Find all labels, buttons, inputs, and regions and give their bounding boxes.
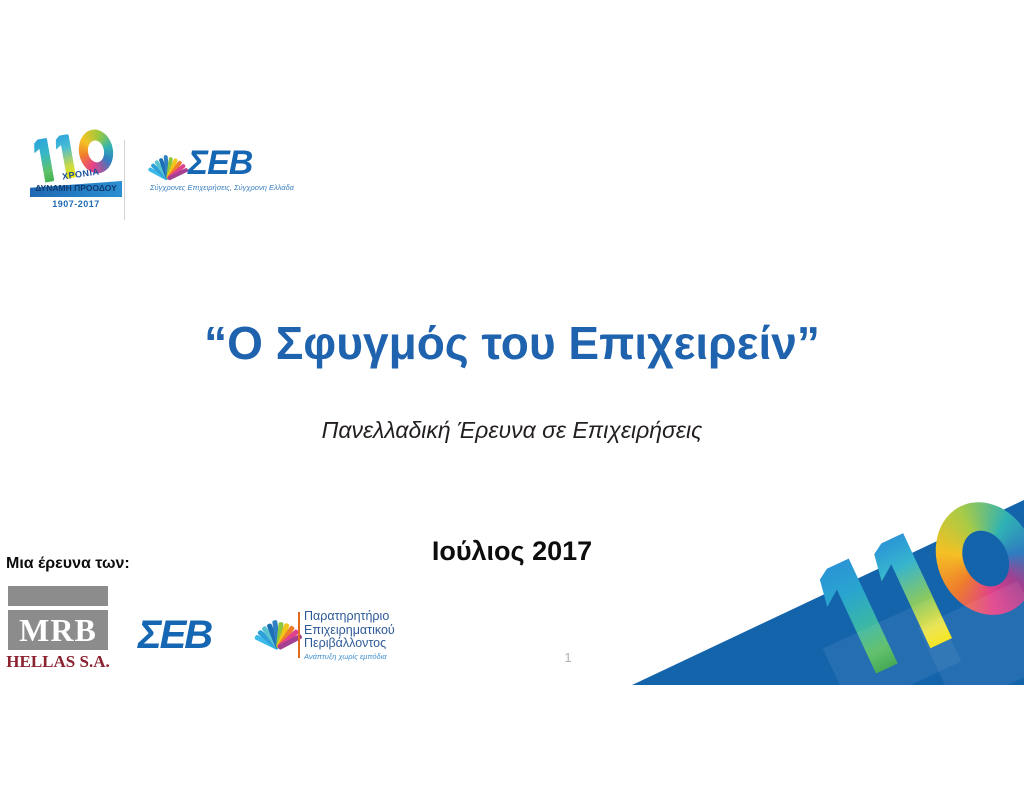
header-logo-bar: ΧΡΟΝΙΑ ΔΥΝΑΜΗ ΠΡΟΟΔΟΥ 1907-2017 ΣΕΒ Σύγχ… — [26, 133, 326, 225]
presentation-slide: ΧΡΟΝΙΑ ΔΥΝΑΜΗ ΠΡΟΟΔΟΥ 1907-2017 ΣΕΒ Σύγχ… — [0, 0, 1024, 791]
110-anniversary-corner-graphic — [632, 500, 1024, 685]
seb-tagline: Σύγχρονες Επιχειρήσεις, Σύγχρονη Ελλάδα — [150, 183, 294, 192]
seb-observatory-logo: ΣΕΒ Παρατηρητήριο Επιχειρηματικού Περιβά… — [138, 607, 388, 669]
seb-burst-icon — [148, 145, 188, 181]
seb-wordmark: ΣΕΒ — [188, 144, 252, 183]
credits-label: Μια έρευνα των: — [6, 555, 130, 573]
observatory-name: Παρατηρητήριο Επιχειρηματικού Περιβάλλον… — [304, 610, 394, 651]
slide-subtitle: Πανελλαδική Έρευνα σε Επιχειρήσεις — [0, 417, 1024, 444]
observatory-line-1: Παρατηρητήριο — [304, 610, 394, 624]
mrb-wordmark: MRB — [8, 612, 108, 649]
110-anniversary-logo: ΧΡΟΝΙΑ ΔΥΝΑΜΗ ΠΡΟΟΔΟΥ 1907-2017 — [30, 133, 122, 223]
observatory-tagline: Ανάπτυξη χωρίς εμπόδια — [304, 652, 387, 661]
seb-observatory-burst-icon — [256, 608, 300, 650]
seb-logo: ΣΕΒ Σύγχρονες Επιχειρήσεις, Σύγχρονη Ελλ… — [148, 145, 288, 201]
observatory-accent-bar — [298, 612, 300, 658]
mrb-top-bar — [8, 586, 108, 606]
anniversary-years: 1907-2017 — [30, 199, 122, 209]
observatory-line-3: Περιβάλλοντος — [304, 637, 394, 651]
mrb-hellas-logo: MRB HELLAS S.A. — [6, 586, 110, 674]
logo-divider — [124, 140, 125, 220]
observatory-line-2: Επιχειρηματικού — [304, 624, 394, 638]
mrb-subtitle: HELLAS S.A. — [6, 652, 110, 672]
anniversary-slogan: ΔΥΝΑΜΗ ΠΡΟΟΔΟΥ — [30, 183, 122, 193]
seb-observatory-wordmark: ΣΕΒ — [138, 613, 211, 658]
slide-title: “Ο Σφυγμός του Επιχειρείν” — [0, 316, 1024, 370]
digit-one-a — [32, 138, 54, 184]
